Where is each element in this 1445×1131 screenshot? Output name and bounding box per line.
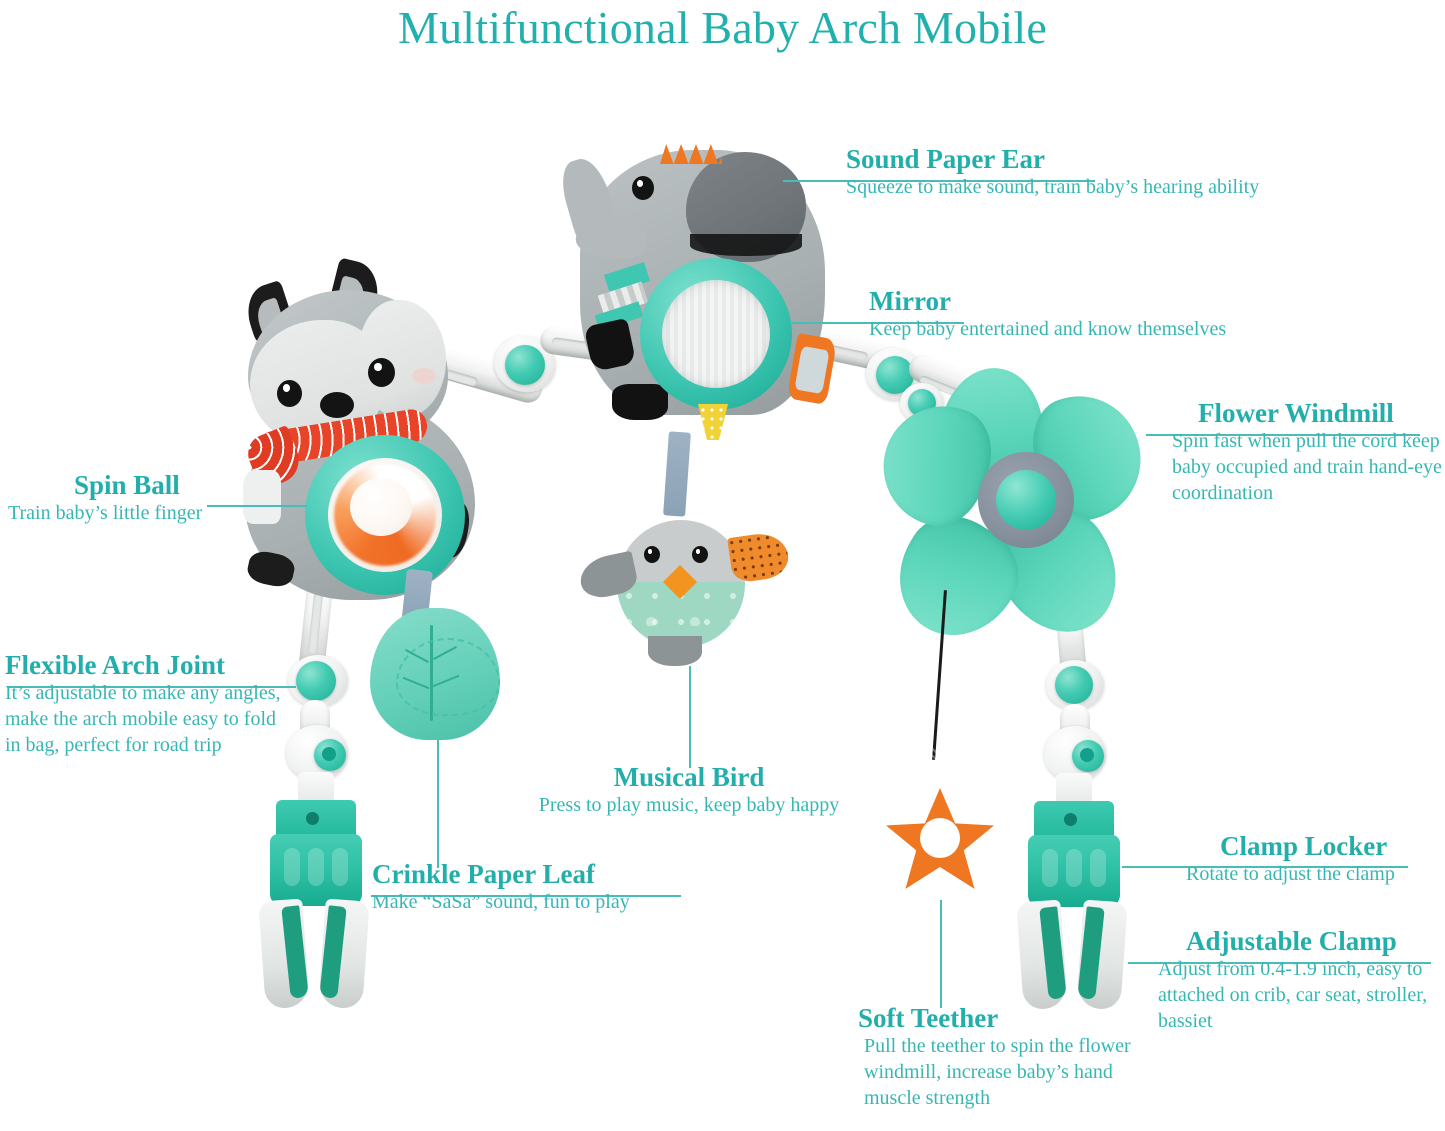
callout-heading: Soft Teether <box>858 1003 1148 1033</box>
leader-line-spin-ball <box>207 505 307 507</box>
elephant-eye <box>632 176 654 200</box>
infographic-canvas: Multifunctional Baby Arch Mobile <box>0 0 1445 1131</box>
callout-body: Squeeze to make sound, train baby’s hear… <box>846 174 1259 200</box>
mirror <box>662 280 770 388</box>
callout-musical-bird: Musical Bird Press to play music, keep b… <box>497 762 881 818</box>
callout-heading: Flower Windmill <box>1198 398 1444 428</box>
bird-wing-right <box>727 530 791 584</box>
callout-mirror: Mirror Keep baby entertained and know th… <box>869 286 1226 342</box>
bird-eye-right <box>692 546 708 563</box>
callout-sound-paper-ear: Sound Paper Ear Squeeze to make sound, t… <box>846 144 1259 200</box>
callout-body: Pull the teether to spin the flower wind… <box>864 1033 1148 1111</box>
callout-heading: Flexible Arch Joint <box>5 650 295 680</box>
callout-adjustable-clamp: Adjustable Clamp Adjust from 0.4-1.9 inc… <box>1158 926 1443 1034</box>
windmill-center-ball <box>996 470 1056 530</box>
callout-flexible-arch-joint: Flexible Arch Joint It’s adjustable to m… <box>5 650 295 758</box>
leader-line-sound-paper-ear <box>783 180 845 182</box>
ball-joint-left-upper <box>296 661 336 701</box>
bird-eye-left <box>644 546 660 563</box>
leader-line-soft-teether <box>940 900 942 1008</box>
callout-body: It’s adjustable to make any angles, make… <box>5 680 295 758</box>
callout-soft-teether: Soft Teether Pull the teether to spin th… <box>858 1003 1148 1111</box>
callout-heading: Spin Ball <box>74 470 202 500</box>
ball-joint-right-upper <box>1055 666 1093 704</box>
callout-flower-windmill: Flower Windmill Spin fast when pull the … <box>1172 398 1444 506</box>
fox-nose <box>320 392 354 418</box>
fox-eye-left <box>277 380 302 407</box>
callout-heading: Musical Bird <box>497 762 881 792</box>
callout-crinkle-paper-leaf: Crinkle Paper Leaf Make “SaSa” sound, fu… <box>372 859 630 915</box>
callout-heading: Crinkle Paper Leaf <box>372 859 630 889</box>
callout-body: Keep baby entertained and know themselve… <box>869 316 1226 342</box>
fox-eye-right <box>368 358 395 387</box>
callout-spin-ball: Spin Ball Train baby’s little finger <box>8 470 202 526</box>
callout-body: Press to play music, keep baby happy <box>497 792 881 818</box>
leader-line-mirror <box>790 322 868 324</box>
callout-body: Train baby’s little finger <box>8 500 202 526</box>
leader-line-musical-bird <box>689 666 691 768</box>
teether-strap <box>922 748 948 804</box>
leader-line-crinkle-paper-leaf <box>437 740 439 868</box>
callout-heading: Mirror <box>869 286 1226 316</box>
callout-heading: Sound Paper Ear <box>846 144 1259 174</box>
callout-body: Spin fast when pull the cord keep baby o… <box>1172 428 1444 506</box>
callout-body: Rotate to adjust the clamp <box>1186 861 1395 887</box>
callout-body: Make “SaSa” sound, fun to play <box>372 889 630 915</box>
callout-clamp-locker: Clamp Locker Rotate to adjust the clamp <box>1220 831 1395 887</box>
callout-heading: Adjustable Clamp <box>1186 926 1443 956</box>
spin-ball <box>328 458 442 572</box>
callout-body: Adjust from 0.4-1.9 inch, easy to attach… <box>1158 956 1443 1034</box>
ball-joint-mid-left <box>505 345 545 385</box>
callout-heading: Clamp Locker <box>1220 831 1395 861</box>
